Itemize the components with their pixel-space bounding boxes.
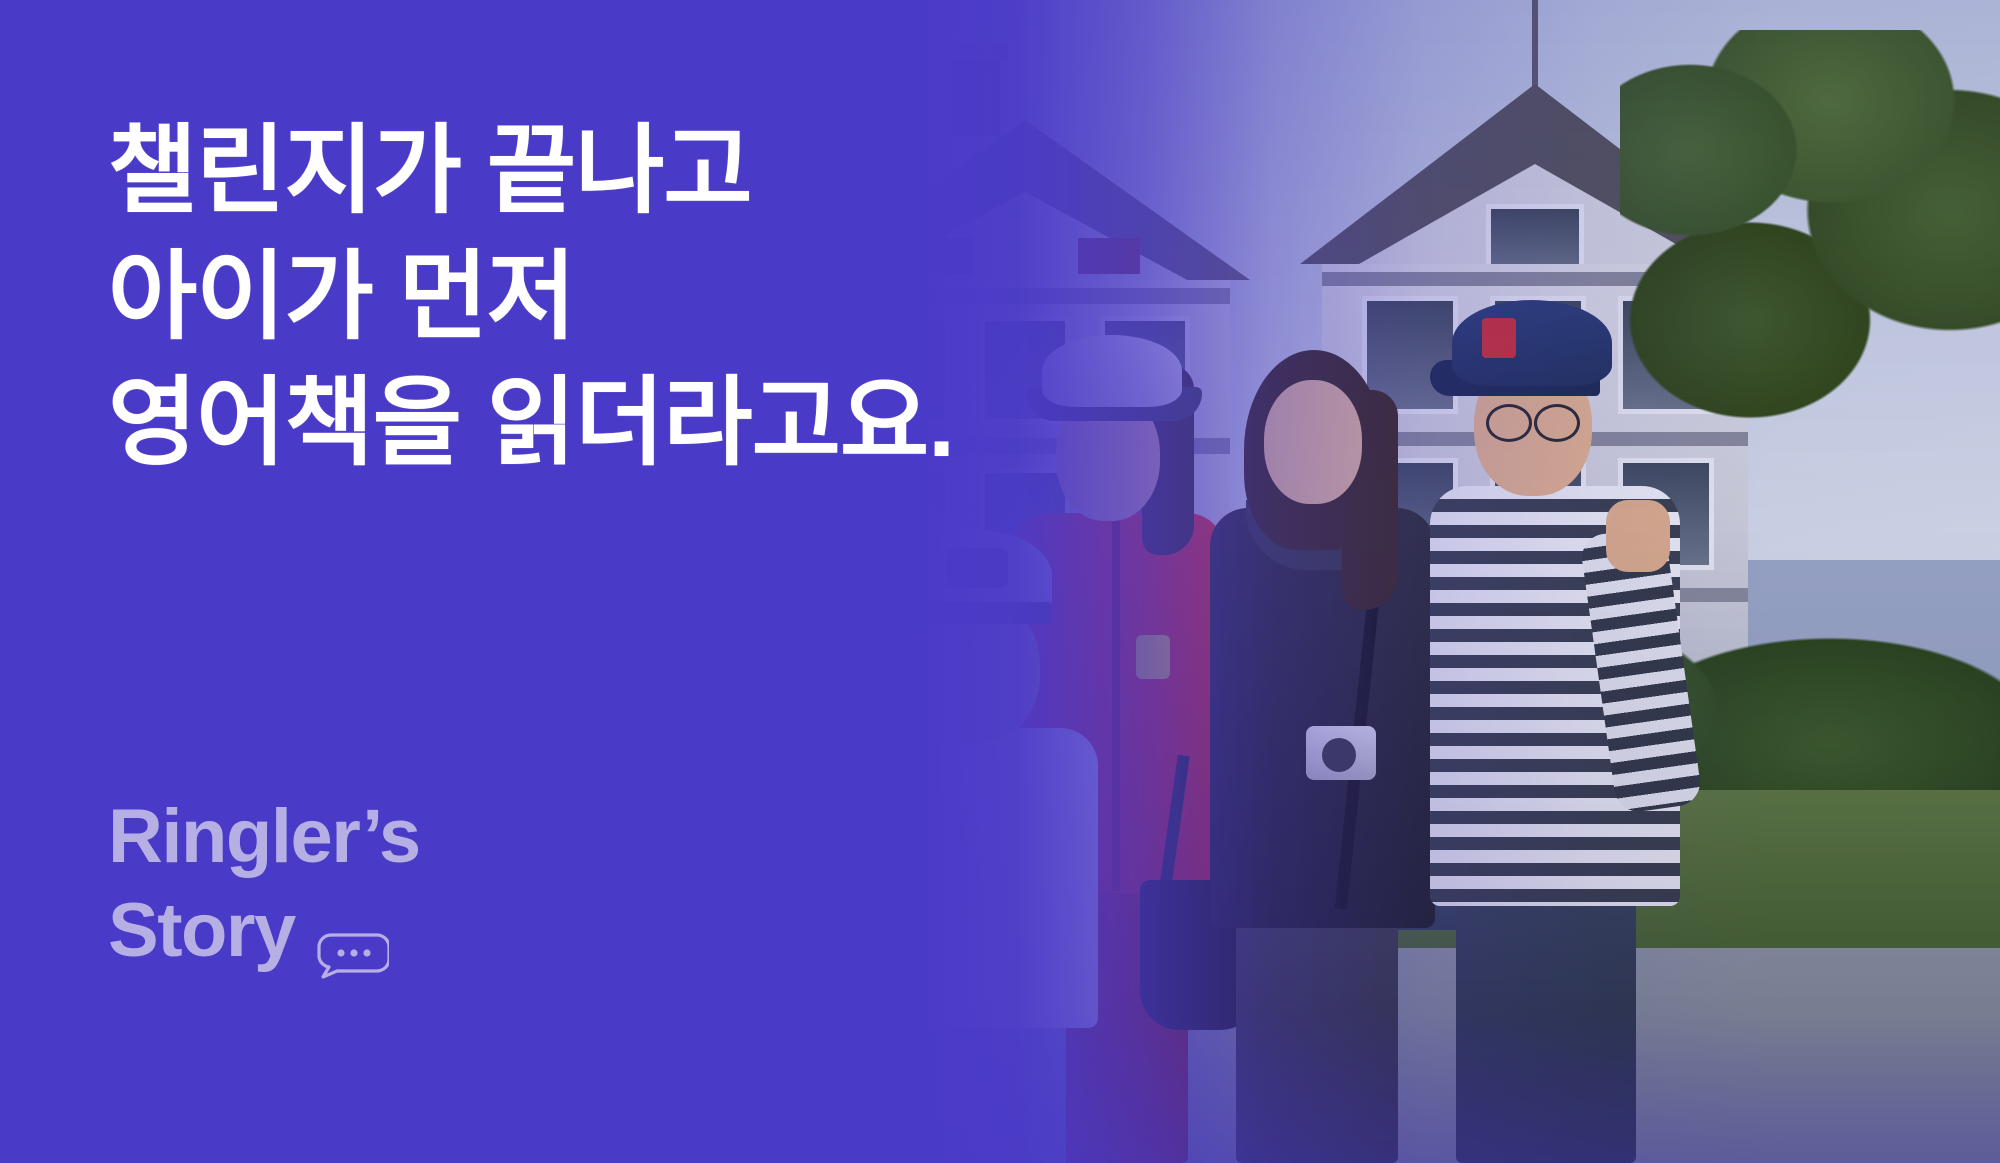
brand-line-2: Story xyxy=(108,884,420,978)
speech-bubble-ellipsis-icon xyxy=(317,907,389,955)
brand-line-1: Ringler’s xyxy=(108,790,420,884)
brand-lockup: Ringler’s Story xyxy=(108,790,420,978)
brand-story-text: Story xyxy=(108,884,295,978)
brand-name-text: Ringler’s xyxy=(108,790,420,884)
ringlers-story-banner: 챌린지가 끝나고 아이가 먼저 영어책을 읽더라고요. Ringler’s St… xyxy=(0,0,2000,1163)
page-title: 챌린지가 끝나고 아이가 먼저 영어책을 읽더라고요. xyxy=(108,108,1028,486)
photo-bottom-fade xyxy=(740,1013,2000,1163)
